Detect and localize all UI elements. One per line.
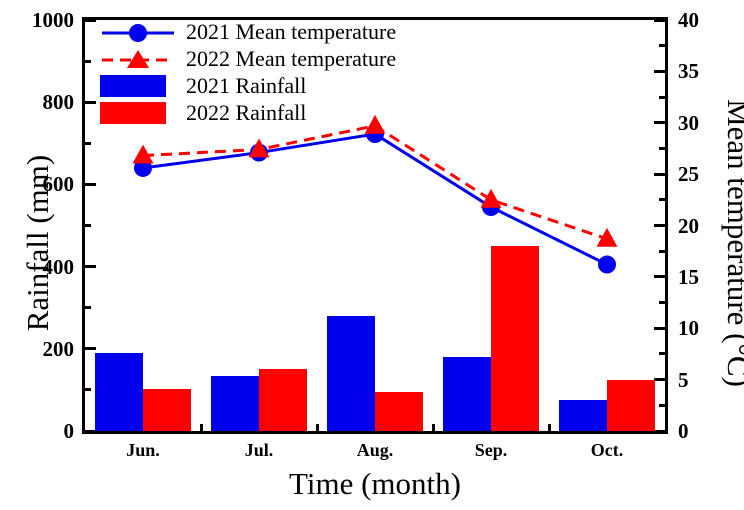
y2-axis-label: 25 <box>678 162 738 187</box>
x-axis-label: Jul. <box>219 440 299 461</box>
chart-legend: 2021 Mean temperature2022 Mean temperatu… <box>100 18 396 126</box>
y2-axis-label: 20 <box>678 214 738 239</box>
y2-axis-label: 40 <box>678 8 738 33</box>
legend-label: 2022 Mean temperature <box>186 46 396 72</box>
x-axis-label: Aug. <box>335 440 415 461</box>
y-axis-label: 200 <box>14 337 74 362</box>
legend-marker <box>129 24 147 42</box>
legend-key-line-triangle-red <box>100 48 180 70</box>
x-axis-label: Oct. <box>567 440 647 461</box>
x-axis-title: Time (month) <box>82 466 668 502</box>
x-axis-label: Sep. <box>451 440 531 461</box>
y2-axis-label: 15 <box>678 265 738 290</box>
legend-item: 2022 Rainfall <box>100 99 396 126</box>
chart-figure: Rainfall (mm) Mean temperature (°C) Time… <box>0 0 744 510</box>
y-axis-label: 800 <box>14 90 74 115</box>
y2-axis-label: 35 <box>678 59 738 84</box>
legend-item: 2021 Rainfall <box>100 72 396 99</box>
y-axis-label: 600 <box>14 172 74 197</box>
legend-swatch <box>100 75 166 97</box>
y2-axis-label: 0 <box>678 419 738 444</box>
y2-axis-label: 5 <box>678 368 738 393</box>
line-2021-temperature <box>143 134 607 264</box>
legend-label: 2021 Mean temperature <box>186 19 396 45</box>
legend-key-line-circle-blue <box>100 21 180 43</box>
legend-key-swatch-red <box>100 102 180 124</box>
y-axis-label: 400 <box>14 255 74 280</box>
legend-item: 2021 Mean temperature <box>100 18 396 45</box>
legend-label: 2021 Rainfall <box>186 73 306 99</box>
x-axis-label: Jun. <box>103 440 183 461</box>
y-axis-label: 1000 <box>14 8 74 33</box>
y2-axis-label: 10 <box>678 316 738 341</box>
legend-item: 2022 Mean temperature <box>100 45 396 72</box>
legend-swatch <box>100 102 166 124</box>
y-axis-label: 0 <box>14 419 74 444</box>
marker-2022-temperature <box>481 189 502 208</box>
legend-label: 2022 Rainfall <box>186 100 306 126</box>
y2-axis-label: 30 <box>678 111 738 136</box>
marker-2021-temperature <box>598 256 616 274</box>
legend-key-swatch-blue <box>100 75 180 97</box>
